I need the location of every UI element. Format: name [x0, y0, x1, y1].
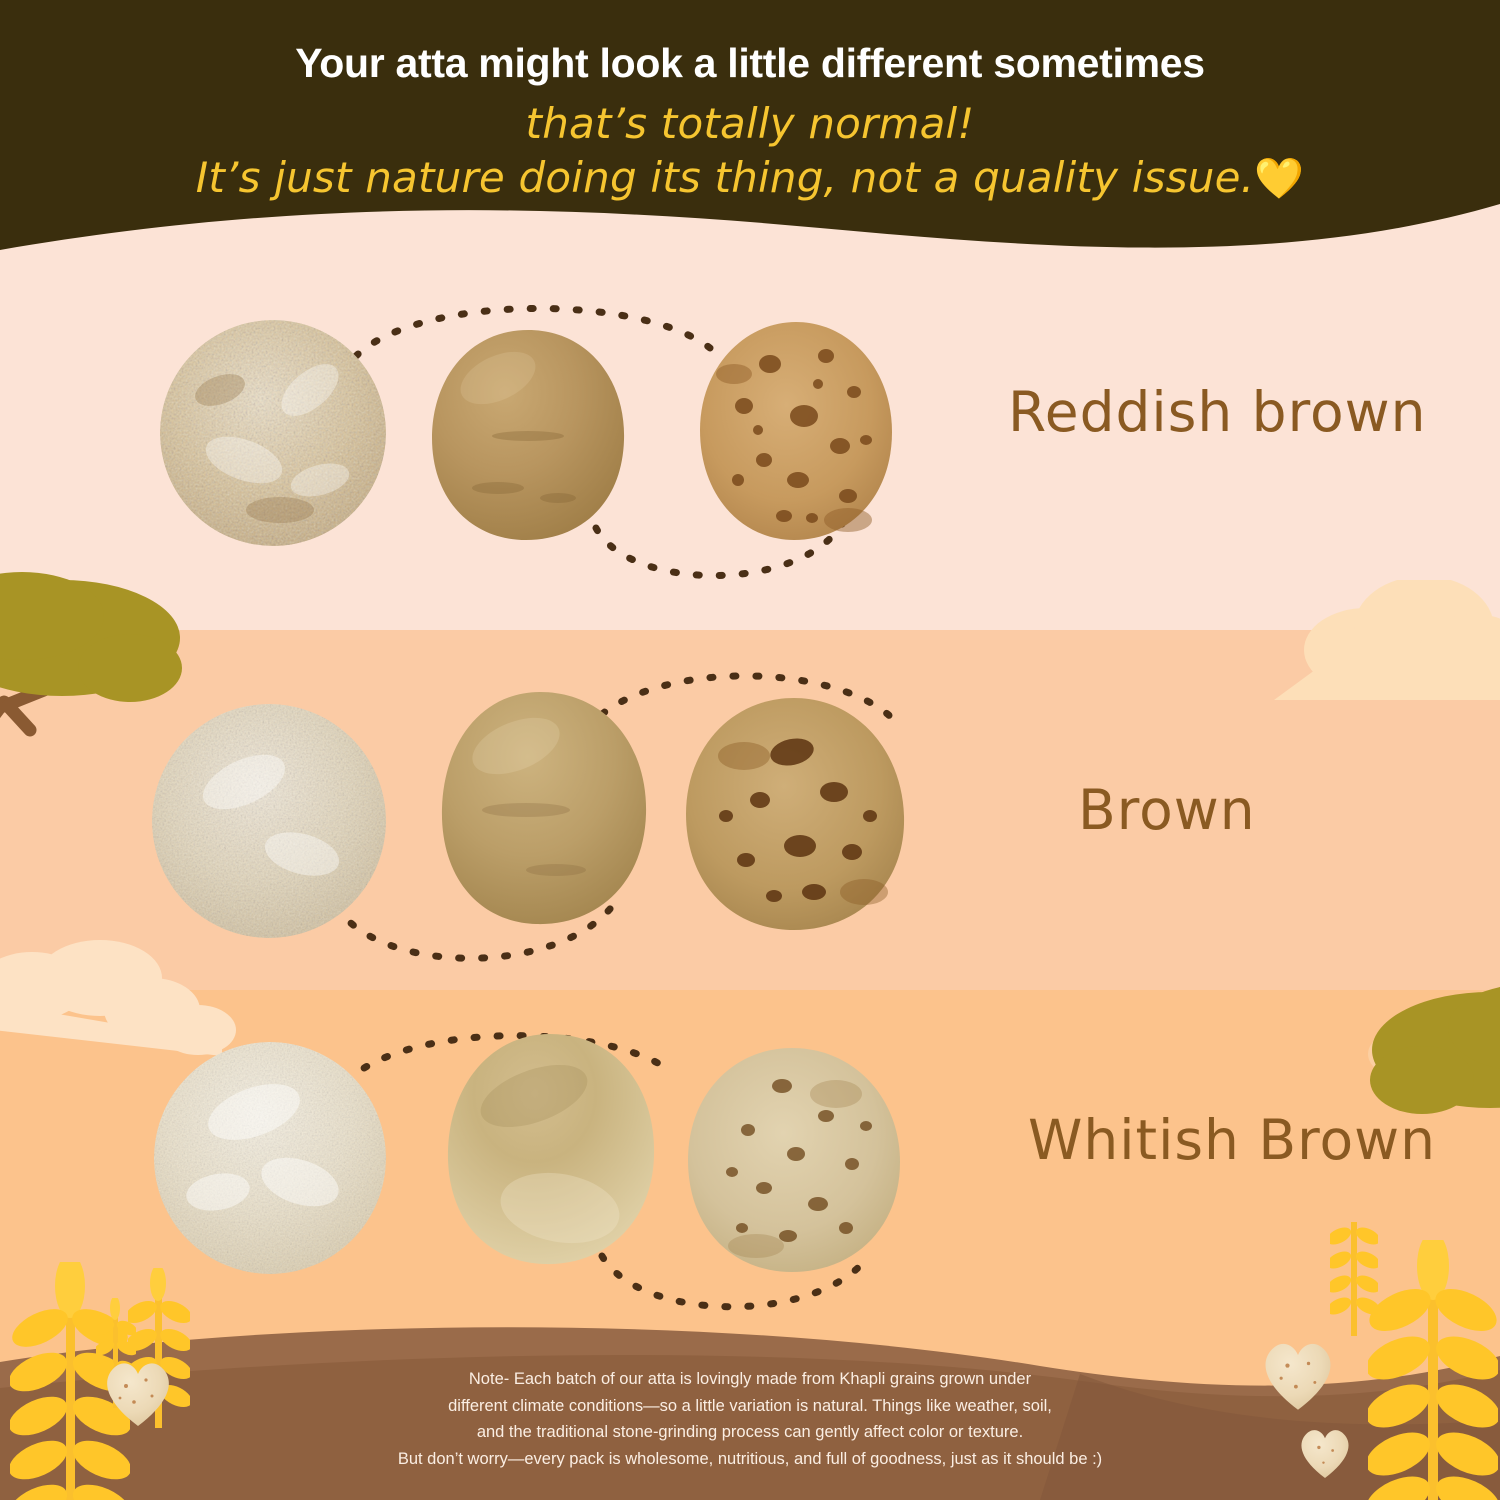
footer-note-line-1: Note- Each batch of our atta is lovingly…: [200, 1366, 1300, 1393]
headline-tertiary: It’s just nature doing its thing, not a …: [0, 153, 1500, 203]
footer-note: Note- Each batch of our atta is lovingly…: [0, 1366, 1500, 1473]
footer-note-line-2: different climate conditions—so a little…: [200, 1393, 1300, 1420]
dough-ball-photo-reddish-brown: [428, 328, 628, 542]
dough-ball-photo-whitish-brown: [444, 1032, 658, 1268]
roti-photo-whitish-brown: [686, 1046, 902, 1274]
headline-secondary: that’s totally normal!: [0, 99, 1500, 149]
roti-photo-brown: [684, 696, 906, 932]
flour-photo-reddish-brown: [160, 320, 386, 546]
dough-ball-photo-brown: [436, 690, 650, 928]
variant-row-reddish-brown: [0, 300, 1500, 590]
header-text-block: Your atta might look a little different …: [0, 40, 1500, 203]
variant-row-whitish-brown: [0, 1022, 1500, 1312]
headline-tertiary-text: It’s just nature doing its thing, not a …: [196, 153, 1254, 202]
headline-primary: Your atta might look a little different …: [0, 40, 1500, 87]
flour-photo-brown: [152, 704, 386, 938]
roti-photo-reddish-brown: [698, 320, 894, 542]
yellow-heart-icon: 💛: [1254, 156, 1304, 202]
footer-note-line-4: But don’t worry—every pack is wholesome,…: [200, 1446, 1300, 1473]
flour-photo-whitish-brown: [154, 1042, 386, 1274]
variant-row-brown: [0, 676, 1500, 966]
footer-note-line-3: and the traditional stone-grinding proce…: [200, 1419, 1300, 1446]
poster-canvas: Reddish brown Brown Whitish Brown Your a…: [0, 0, 1500, 1500]
